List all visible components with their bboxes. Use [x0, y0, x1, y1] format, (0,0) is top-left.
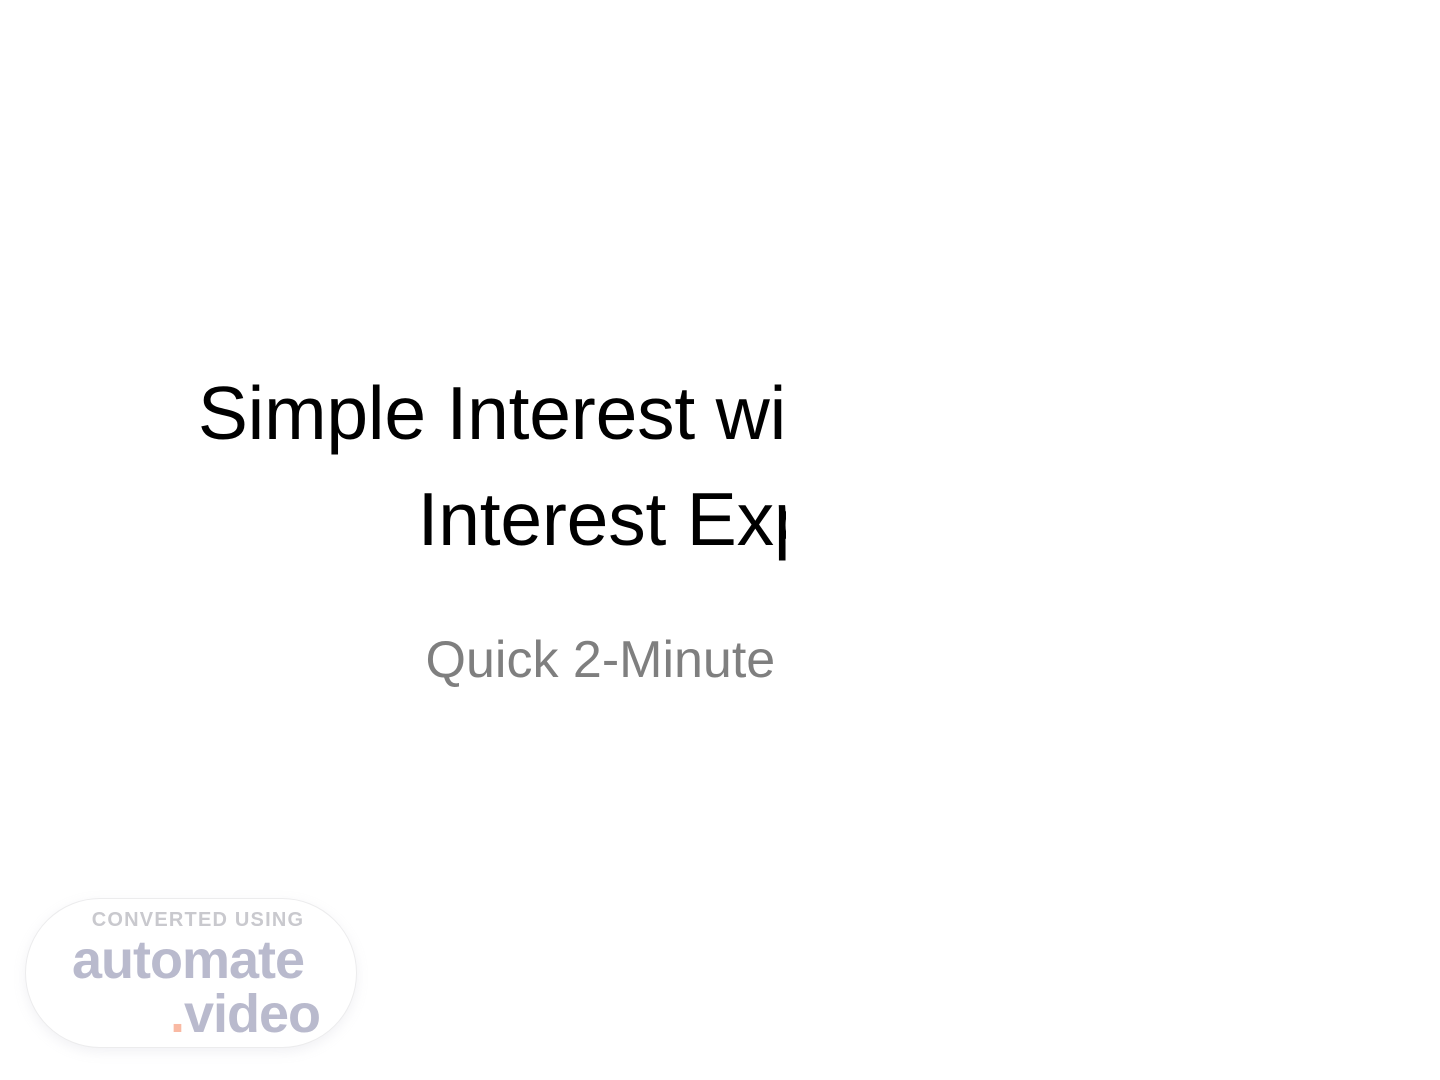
watermark-brand: automate	[44, 935, 326, 985]
watermark-badge[interactable]: CONVERTED USING automate .video	[25, 898, 357, 1048]
slide-title-line-1: Simple Interest with Compound	[196, 360, 786, 466]
slide-subtitle: Quick 2-Minute Explainer	[196, 622, 786, 698]
watermark-content: CONVERTED USING automate .video	[26, 899, 356, 1047]
slide-subtitle-line-1: Quick 2-Minute Explainer	[196, 622, 786, 698]
watermark-dot-icon: .	[170, 984, 184, 1044]
slide-title-line-2: Interest Explained	[196, 466, 786, 572]
watermark-tld: .video	[44, 987, 326, 1041]
watermark-tld-label: video	[184, 984, 320, 1044]
slide-title: Simple Interest with Compound Interest E…	[196, 360, 786, 572]
slide-canvas: Simple Interest with Compound Interest E…	[0, 0, 1440, 1080]
